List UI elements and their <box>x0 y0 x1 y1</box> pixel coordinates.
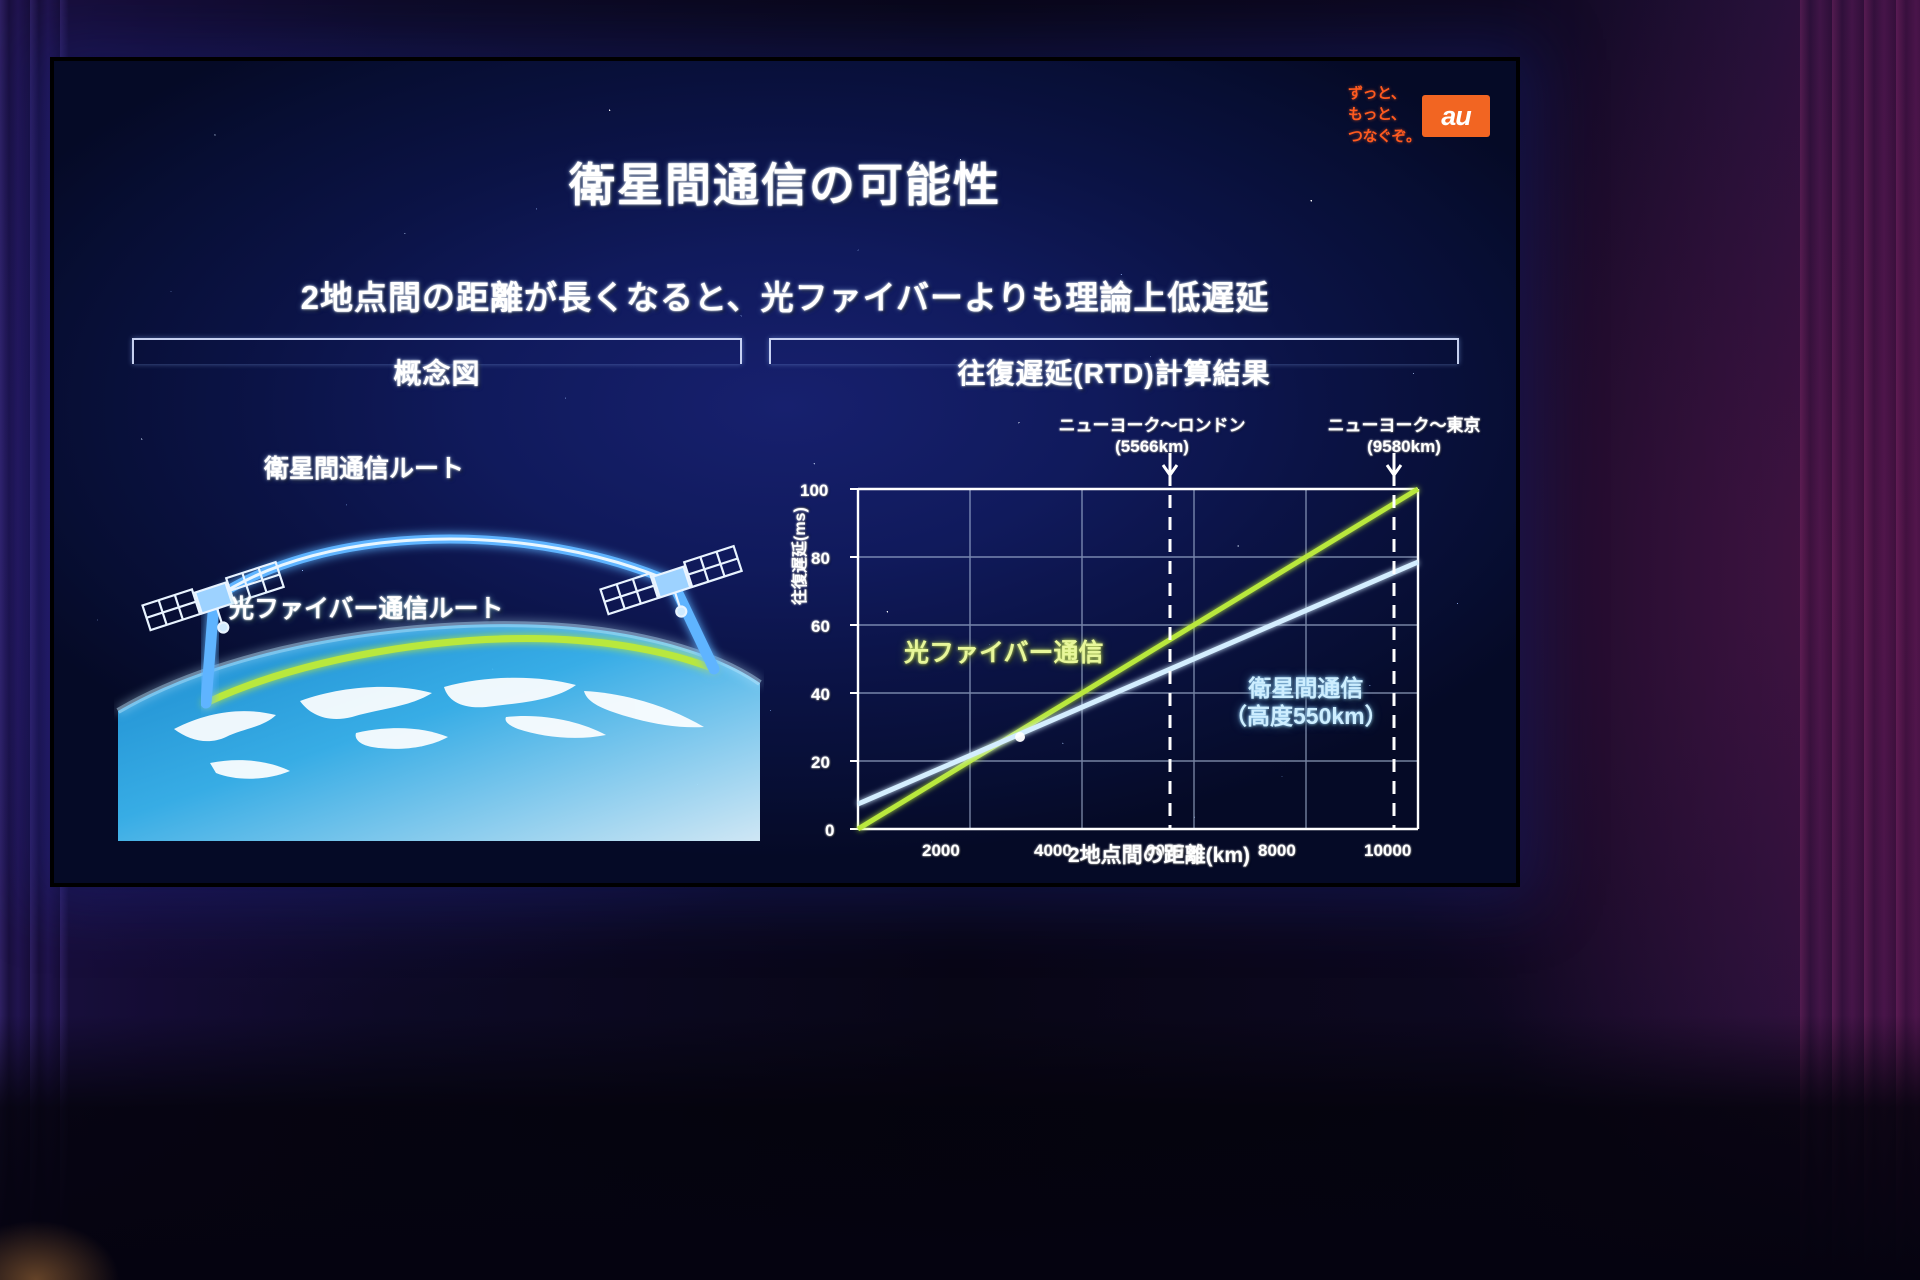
panel-header-right: 往復遅延(RTD)計算結果 <box>769 338 1459 396</box>
marker-arrow-london <box>1163 453 1177 475</box>
marker-arrow-tokyo <box>1387 453 1401 475</box>
legend-satellite-line2: （高度550km） <box>1224 702 1388 730</box>
page-subtitle: 2地点間の距離が長くなると、光ファイバーよりも理論上低遅延 <box>54 271 1516 319</box>
presentation-slide: ずっと、もっと、つなぐぞ。 au 衛星間通信の可能性 2地点間の距離が長くなると… <box>54 61 1516 883</box>
au-tagline: ずっと、もっと、つなぐぞ。 <box>1348 83 1421 147</box>
legend-fiber-label: 光ファイバー通信 <box>904 633 1104 669</box>
panel-title-right: 往復遅延(RTD)計算結果 <box>769 352 1459 392</box>
sat-route-label: 衛星間通信ルート <box>264 449 464 485</box>
chart-tick-marks <box>850 489 858 829</box>
concept-diagram: 衛星間通信ルート 光ファイバー通信ルート <box>114 411 764 851</box>
floor-glow <box>0 1220 120 1280</box>
panel-header-left: 概念図 <box>132 338 742 396</box>
chart-svg <box>794 409 1484 849</box>
stage-floor <box>0 1015 1920 1280</box>
stage-backdrop: ずっと、もっと、つなぐぞ。 au 衛星間通信の可能性 2地点間の距離が長くなると… <box>0 0 1920 1280</box>
rtd-chart: ニューヨーク〜ロンドン (5566km) ニューヨーク〜東京 (9580km) … <box>794 409 1484 879</box>
au-brand-badge: au <box>1422 95 1490 137</box>
panel-title-left: 概念図 <box>132 352 742 392</box>
page-title: 衛星間通信の可能性 <box>54 149 1516 215</box>
projection-screen: ずっと、もっと、つなぐぞ。 au 衛星間通信の可能性 2地点間の距離が長くなると… <box>50 57 1520 887</box>
fiber-route-label: 光ファイバー通信ルート <box>229 589 504 625</box>
crossover-point <box>1015 732 1025 742</box>
legend-satellite-line1: 衛星間通信 <box>1224 674 1388 702</box>
legend-satellite-label: 衛星間通信 （高度550km） <box>1224 674 1388 730</box>
au-brand-text: au <box>1441 101 1471 132</box>
